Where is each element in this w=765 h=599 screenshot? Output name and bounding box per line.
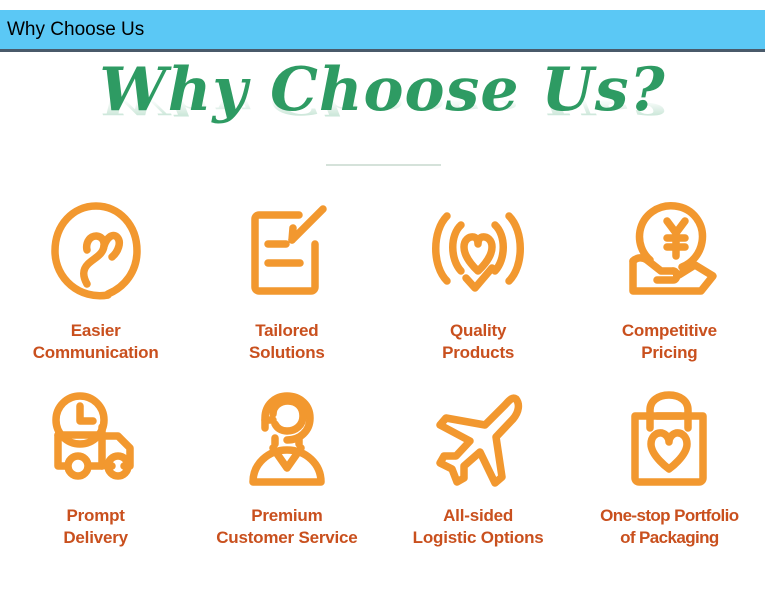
feature-one-stop-portfolio-of-packaging[interactable]: One-stop Portfolio of Packaging: [574, 385, 765, 549]
feature-label: Premium Customer Service: [216, 505, 357, 549]
feature-label: Quality Products: [442, 320, 514, 364]
ear-in-circle-icon: [41, 196, 151, 306]
feature-tailored-solutions[interactable]: Tailored Solutions: [191, 196, 382, 364]
note-pencil-icon: [232, 196, 342, 306]
feature-label: Prompt Delivery: [63, 505, 128, 549]
feature-label: Competitive Pricing: [622, 320, 717, 364]
window-titlebar: Why Choose Us: [0, 10, 765, 52]
feature-competitive-pricing[interactable]: Competitive Pricing: [574, 196, 765, 364]
headset-agent-icon: [232, 385, 342, 495]
hand-holding-yen-coin-icon: [614, 196, 724, 306]
feature-row-1: Easier Communication Tailored Solutions: [0, 196, 765, 364]
feature-prompt-delivery[interactable]: Prompt Delivery: [0, 385, 191, 549]
feature-label: All-sided Logistic Options: [413, 505, 544, 549]
headline-wrapper: Why Choose Us? Why Choose Us?: [0, 55, 765, 191]
headline-section: Why Choose Us? Why Choose Us?: [0, 55, 765, 185]
feature-all-sided-logistic-options[interactable]: All-sided Logistic Options: [383, 385, 574, 549]
heart-check-signal-icon: [423, 196, 533, 306]
feature-quality-products[interactable]: Quality Products: [383, 196, 574, 364]
airplane-icon: [423, 385, 533, 495]
feature-label: Tailored Solutions: [249, 320, 325, 364]
delivery-truck-clock-icon: [41, 385, 151, 495]
page-title: Why Choose Us?: [99, 55, 665, 125]
headline-divider: [326, 164, 441, 166]
feature-premium-customer-service[interactable]: Premium Customer Service: [191, 385, 382, 549]
shopping-bag-heart-icon: [614, 385, 724, 495]
feature-easier-communication[interactable]: Easier Communication: [0, 196, 191, 364]
feature-grid: Easier Communication Tailored Solutions: [0, 196, 765, 549]
feature-label: One-stop Portfolio of Packaging: [600, 505, 738, 549]
window-title: Why Choose Us: [0, 19, 144, 41]
feature-row-2: Prompt Delivery Premium Customer Service: [0, 385, 765, 549]
feature-label: Easier Communication: [33, 320, 159, 364]
